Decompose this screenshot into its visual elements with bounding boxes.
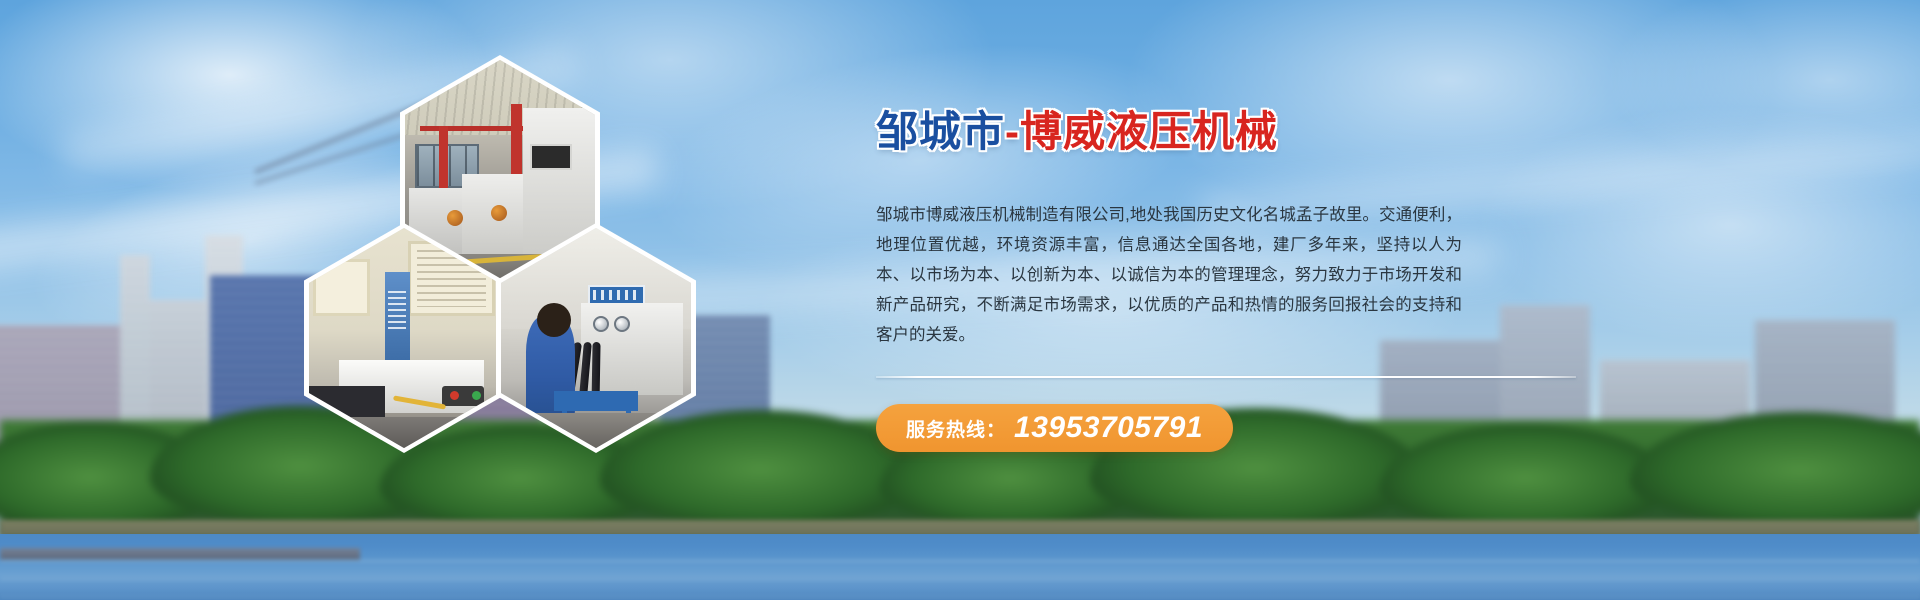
hotline-number: 13953705791 bbox=[1014, 411, 1203, 445]
title-primary: 邹城市 bbox=[876, 108, 1005, 155]
banner-content: 邹城市-博威液压机械 邹城市博威液压机械制造有限公司,地处我国历史文化名城孟子故… bbox=[876, 108, 1596, 452]
jetty bbox=[0, 548, 360, 560]
company-description: 邹城市博威液压机械制造有限公司,地处我国历史文化名城孟子故里。交通便利，地理位置… bbox=[876, 200, 1462, 350]
company-hero-banner: 邹城市-博威液压机械 邹城市博威液压机械制造有限公司,地处我国历史文化名城孟子故… bbox=[0, 0, 1920, 600]
hotline-label: 服务热线： bbox=[906, 415, 1006, 442]
photo-collage bbox=[300, 55, 700, 455]
page-title: 邹城市-博威液压机械 bbox=[876, 108, 1596, 156]
hotline-badge[interactable]: 服务热线： 13953705791 bbox=[876, 404, 1233, 452]
water-surface bbox=[0, 534, 1920, 600]
section-divider bbox=[876, 376, 1576, 378]
title-accent: -博威液压机械 bbox=[1005, 108, 1278, 155]
